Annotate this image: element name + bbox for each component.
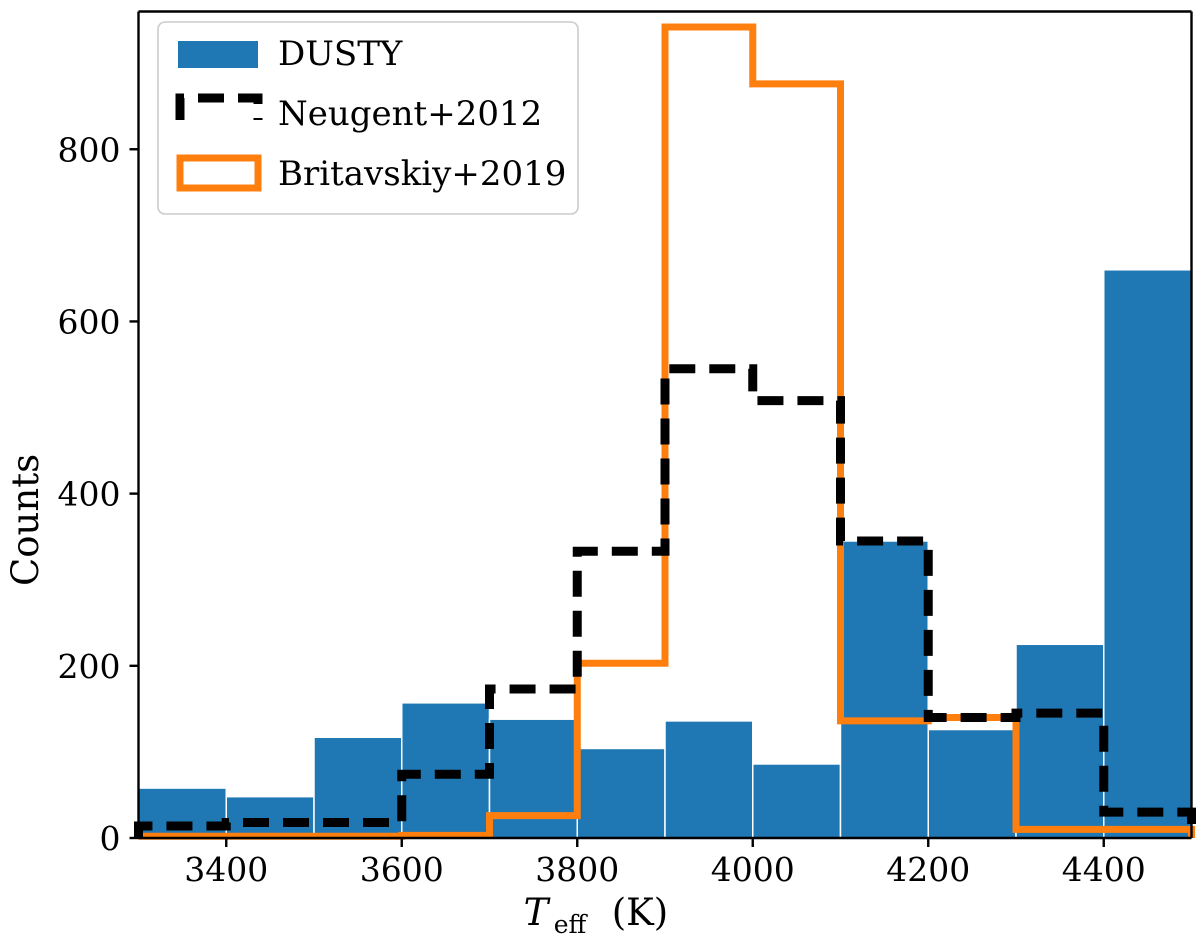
legend-label-dusty: DUSTY [278, 34, 403, 74]
legend-label-neugent: Neugent+2012 [278, 94, 542, 134]
x-axis-title-symbol: T [524, 891, 551, 934]
chart-canvas: 340036003800400042004400 0200400600800 C… [0, 0, 1200, 948]
histogram-bar [753, 764, 841, 838]
x-tick-label: 3800 [535, 850, 619, 889]
x-tick-label: 4000 [711, 850, 795, 889]
histogram-bar [841, 541, 929, 838]
x-tick-label: 3400 [184, 850, 268, 889]
x-tick-label: 3600 [360, 850, 444, 889]
histogram-bar [1104, 270, 1192, 838]
histogram-bar [665, 721, 753, 838]
legend-swatch-dusty [178, 41, 258, 68]
y-tick-label: 600 [58, 302, 121, 341]
histogram-bar [577, 748, 665, 838]
histogram-bar [226, 797, 314, 838]
x-axis-title: T eff (K) [524, 891, 669, 939]
legend-label-britavskiy: Britavskiy+2019 [278, 154, 566, 194]
y-axis-ticks: 0200400600800 [58, 130, 139, 858]
histogram-bar [928, 730, 1016, 838]
legend: DUSTY Neugent+2012 Britavskiy+2019 [158, 22, 578, 214]
histogram-bar [139, 788, 227, 838]
histogram-bar [490, 719, 578, 838]
x-tick-label: 4200 [886, 850, 970, 889]
x-tick-label: 4400 [1062, 850, 1146, 889]
x-axis-title-unit: (K) [612, 891, 669, 934]
y-tick-label: 200 [58, 647, 121, 686]
histogram-bar [1016, 644, 1104, 838]
y-tick-label: 0 [100, 819, 121, 858]
x-axis-title-subscript: eff [554, 910, 589, 939]
y-tick-label: 400 [58, 475, 121, 514]
histogram-figure: 340036003800400042004400 0200400600800 C… [0, 0, 1200, 948]
x-axis-ticks: 340036003800400042004400 [184, 838, 1145, 889]
y-axis-title: Counts [4, 454, 47, 586]
y-tick-label: 800 [58, 130, 121, 169]
